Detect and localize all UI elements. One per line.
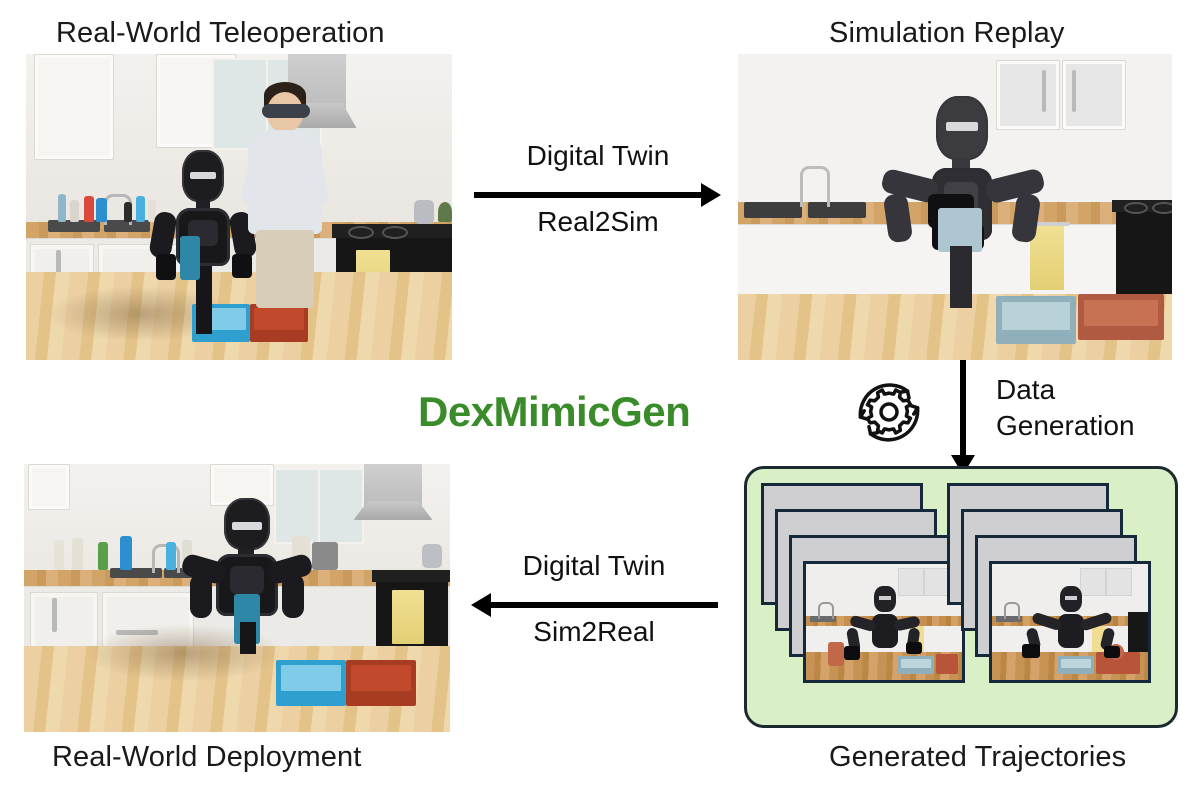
- panel-title-trajectories: Generated Trajectories: [829, 741, 1126, 774]
- arrow-sim2real-top-label: Digital Twin: [470, 550, 718, 582]
- panel-title-teleoperation: Real-World Teleoperation: [56, 17, 385, 50]
- tray-red-sim: [1078, 294, 1164, 340]
- tray-red-deploy: [346, 660, 416, 706]
- trajectory-card-preview: [989, 561, 1151, 683]
- image-simulation-replay: [738, 54, 1172, 360]
- arrow-real2sim-line: [474, 192, 704, 198]
- arrow-real2sim: Digital Twin Real2Sim: [474, 140, 722, 260]
- panel-title-deployment: Real-World Deployment: [52, 741, 361, 774]
- arrow-data-generation-line: [960, 360, 966, 458]
- tray-blue-deploy: [276, 660, 346, 706]
- generated-trajectories-panel: [744, 466, 1178, 728]
- arrow-sim2real-bottom-label: Sim2Real: [470, 616, 718, 648]
- trajectory-stack-left: [761, 483, 951, 711]
- panel-title-simulation: Simulation Replay: [829, 17, 1064, 50]
- arrow-data-generation-label-line1: Data: [996, 374, 1055, 406]
- gear-refresh-icon: [846, 370, 932, 454]
- trajectory-stack-right: [947, 483, 1137, 711]
- brand-title: DexMimicGen: [418, 388, 690, 436]
- arrow-data-generation-label-line2: Generation: [996, 410, 1135, 442]
- figure-canvas: Real-World Teleoperation Simulation Repl…: [0, 0, 1199, 791]
- arrow-sim2real-line: [488, 602, 718, 608]
- trajectory-card-preview: [803, 561, 965, 683]
- arrow-real2sim-top-label: Digital Twin: [474, 140, 722, 172]
- arrow-sim2real: Digital Twin Sim2Real: [470, 550, 718, 670]
- image-real-world-deployment: [24, 464, 450, 732]
- image-real-world-teleoperation: [26, 54, 452, 360]
- arrow-real2sim-bottom-label: Real2Sim: [474, 206, 722, 238]
